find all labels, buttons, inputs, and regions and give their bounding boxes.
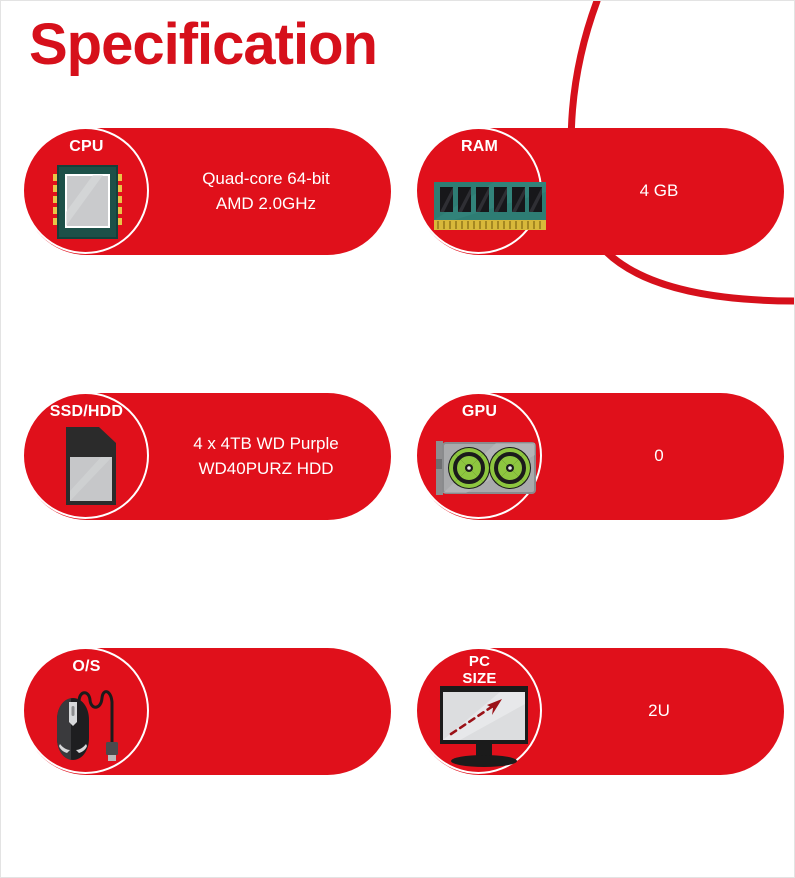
spec-card-grid: Quad-core 64-bit AMD 2.0GHz (1, 1, 795, 878)
specification-infographic: Specification Quad-core 64-bit AMD 2.0GH… (0, 0, 795, 878)
spec-value-pc-size: 2U (548, 648, 770, 775)
spec-label-gpu: GPU (416, 403, 543, 421)
spec-label-storage: SSD/HDD (23, 403, 150, 421)
ram-stick-icon (434, 158, 526, 246)
spec-card-gpu[interactable]: 0 (416, 393, 784, 520)
spec-label-ram: RAM (416, 138, 543, 156)
spec-value-gpu: 0 (548, 393, 770, 520)
spec-value-storage: 4 x 4TB WD Purple WD40PURZ HDD (155, 393, 377, 520)
spec-label-os: O/S (23, 658, 150, 676)
cpu-chip-icon (41, 158, 133, 246)
graphics-card-icon (434, 423, 526, 511)
spec-value-cpu: Quad-core 64-bit AMD 2.0GHz (155, 128, 377, 255)
computer-mouse-icon (41, 678, 133, 766)
memory-card-icon (41, 423, 133, 511)
monitor-screen-size-icon (434, 678, 526, 766)
spec-label-pc-size: PC SIZE (416, 654, 543, 687)
spec-value-os (155, 648, 377, 775)
spec-value-ram: 4 GB (548, 128, 770, 255)
spec-card-os[interactable]: O/S (23, 648, 391, 775)
spec-card-pc-size[interactable]: 2U (416, 648, 784, 775)
spec-card-cpu[interactable]: Quad-core 64-bit AMD 2.0GHz (23, 128, 391, 255)
spec-card-storage[interactable]: 4 x 4TB WD Purple WD40PURZ HDD SSD/HDD (23, 393, 391, 520)
spec-card-ram[interactable]: 4 GB (416, 128, 784, 255)
spec-label-cpu: CPU (23, 138, 150, 156)
